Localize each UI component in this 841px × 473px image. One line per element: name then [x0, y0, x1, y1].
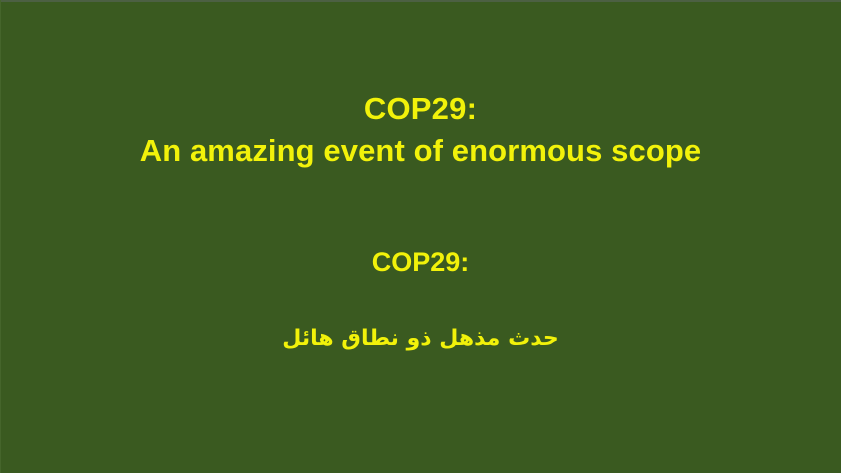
slide-canvas: COP29: An amazing event of enormous scop… — [0, 0, 841, 473]
slide-arabic-translation: حدث مذهل ذو نطاق هائل — [0, 324, 841, 354]
subtitle-line-1: COP29: — [0, 245, 841, 279]
arabic-line-1: حدث مذهل ذو نطاق هائل — [282, 324, 559, 354]
slide-content: COP29: An amazing event of enormous scop… — [0, 0, 841, 473]
slide-subtitle: COP29: — [0, 245, 841, 279]
title-line-1: COP29: — [0, 88, 841, 130]
slide-title: COP29: An amazing event of enormous scop… — [0, 88, 841, 172]
title-line-2: An amazing event of enormous scope — [0, 130, 841, 172]
